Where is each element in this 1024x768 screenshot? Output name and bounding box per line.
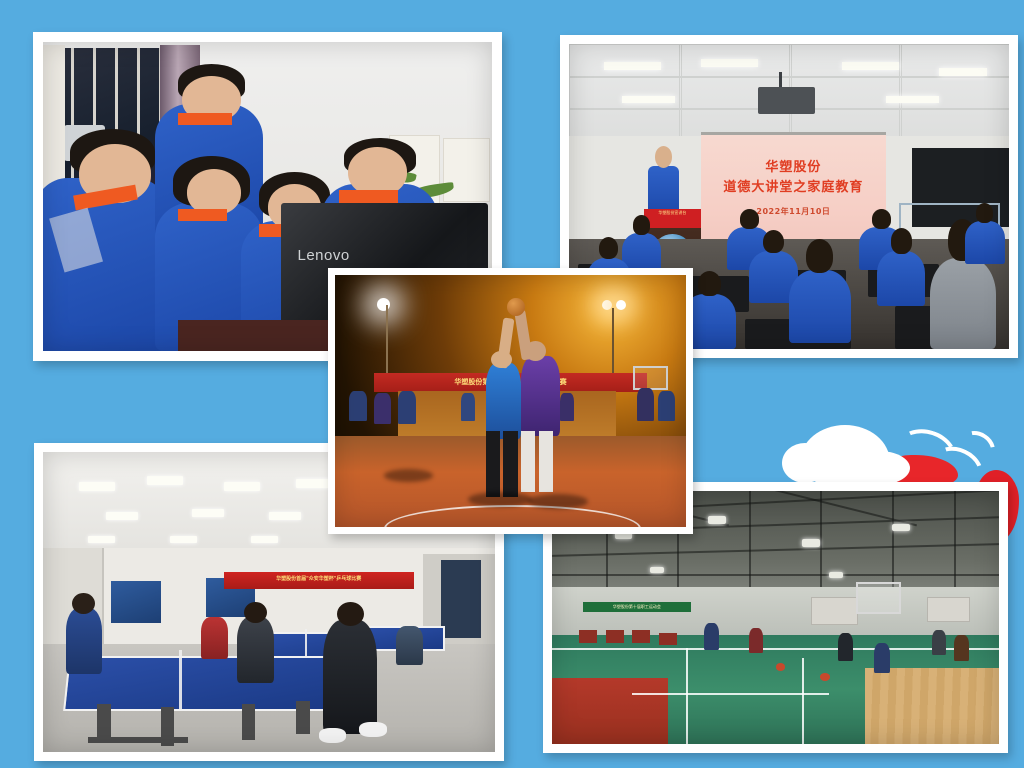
podium-sign: 华塑股份宣讲台 [644,209,701,229]
player-right [323,620,377,734]
gym-banner: 华塑股份第十届职工运动会 [583,602,690,612]
photo-image-basketball: 华塑股份第十届"——"杯男子篮球赛 [335,275,686,527]
table-tennis-banner: 华塑股份首届"众安华塑杯"乒乓球比赛 [224,572,414,589]
screen-title-line1: 华塑股份 [701,156,886,175]
white-cloud-burst-icon [800,425,890,487]
screen-title-line2: 道德大讲堂之家庭教育 [701,176,886,195]
player-purple [521,356,560,437]
wall-poster-left [111,581,161,623]
basketball [507,298,525,316]
monitor-brand-label: Lenovo [298,247,350,264]
projector [758,87,815,114]
player-left [66,608,102,674]
basketball-hoop [856,582,900,614]
table-tennis-table [63,656,335,711]
player-center [237,617,273,683]
screen-date: 2022年11月10日 [701,206,886,217]
photo-basketball-tipoff[interactable]: 华塑股份第十届"——"杯男子篮球赛 [328,268,693,534]
photo-collage: Lenovo [0,0,1024,768]
player-blue [486,363,521,439]
